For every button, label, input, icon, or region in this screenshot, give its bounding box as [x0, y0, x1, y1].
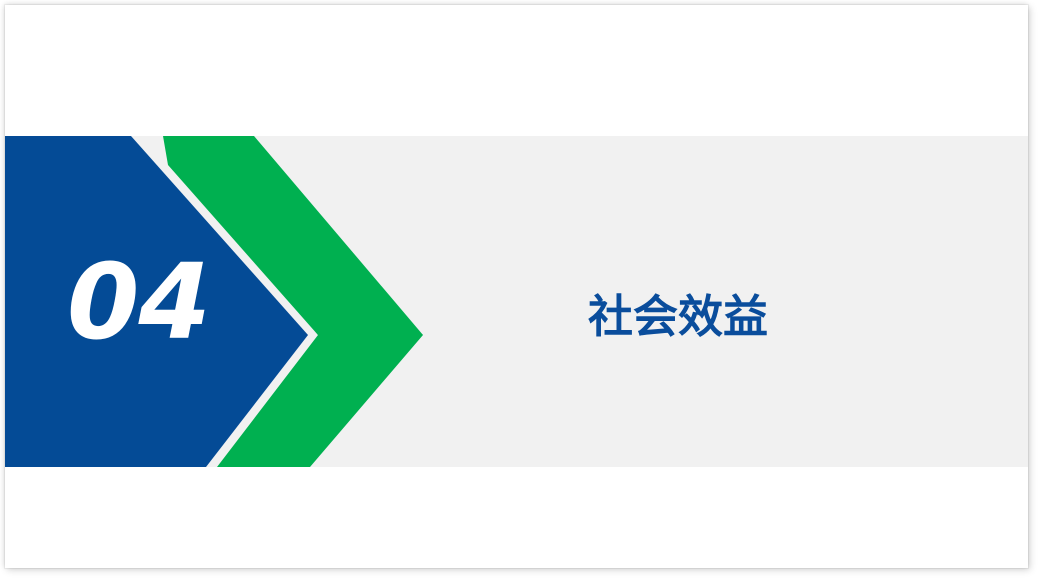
slide-canvas: 04 社会效益 [0, 0, 1044, 586]
section-title: 社会效益 [588, 293, 768, 340]
slide-sheet[interactable]: 04 社会效益 [5, 5, 1028, 568]
section-number: 04 [67, 148, 267, 455]
